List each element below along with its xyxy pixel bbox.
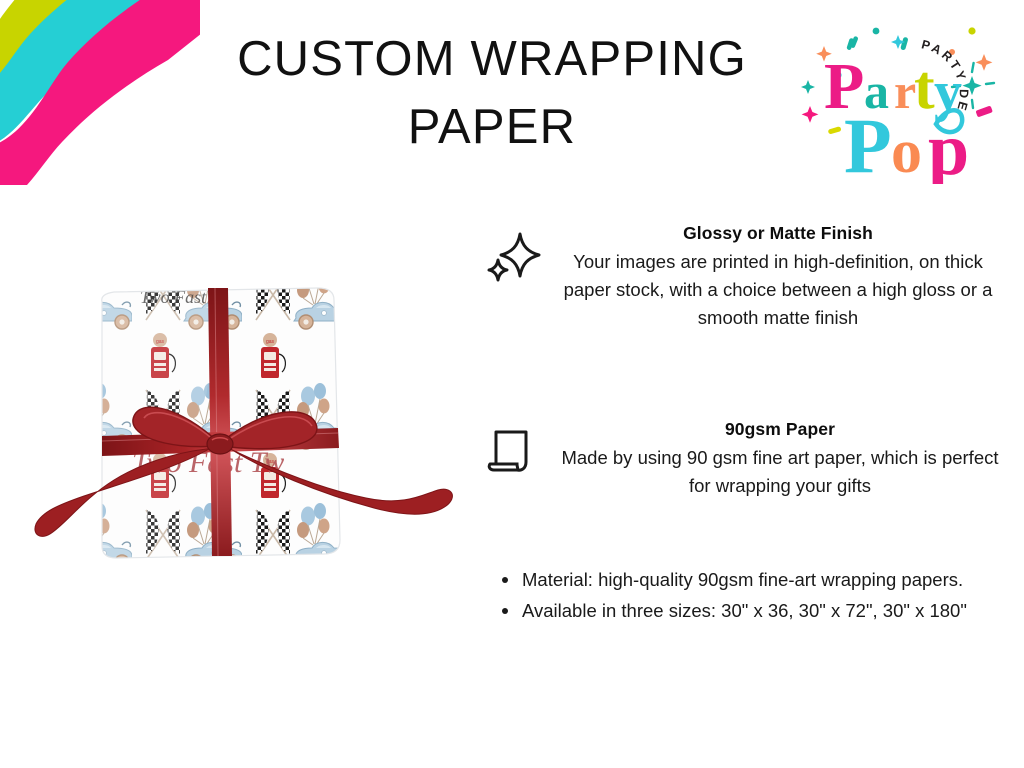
svg-text:r: r bbox=[894, 63, 916, 119]
page-title-line-1: CUSTOM WRAPPING bbox=[212, 26, 772, 94]
page-root: CUSTOM WRAPPING PAPER bbox=[0, 0, 1024, 768]
svg-text:o: o bbox=[891, 118, 922, 184]
feature-body: Made by using 90 gsm fine art paper, whi… bbox=[552, 444, 1008, 500]
brand-logo[interactable]: PARTY DECOR P a r t y P o p bbox=[786, 12, 1014, 184]
wave-band-lime bbox=[0, 0, 150, 96]
wave-band-teal bbox=[0, 0, 186, 152]
svg-text:P: P bbox=[844, 102, 892, 184]
feature-title: Glossy or Matte Finish bbox=[548, 222, 1008, 246]
feature-90gsm-paper: 90gsm Paper Made by using 90 gsm fine ar… bbox=[486, 418, 1008, 500]
wave-band-pink bbox=[0, 0, 200, 185]
list-item: Available in three sizes: 30" x 36, 30" … bbox=[496, 597, 1008, 626]
feature-glossy-or-matte: Glossy or Matte Finish Your images are p… bbox=[486, 222, 1008, 332]
corner-wave-decoration bbox=[0, 0, 200, 185]
feature-title: 90gsm Paper bbox=[552, 418, 1008, 442]
page-title-line-2: PAPER bbox=[212, 94, 772, 162]
sparkle-icon bbox=[486, 222, 548, 289]
paper-sheet-icon bbox=[486, 418, 552, 483]
product-image-wrapped-gift: gas bbox=[22, 258, 492, 606]
feature-body: Your images are printed in high-definiti… bbox=[548, 248, 1008, 332]
list-item: Material: high-quality 90gsm fine-art wr… bbox=[496, 566, 1008, 595]
page-title: CUSTOM WRAPPING PAPER bbox=[212, 26, 772, 161]
spec-bullet-list: Material: high-quality 90gsm fine-art wr… bbox=[496, 566, 1008, 627]
